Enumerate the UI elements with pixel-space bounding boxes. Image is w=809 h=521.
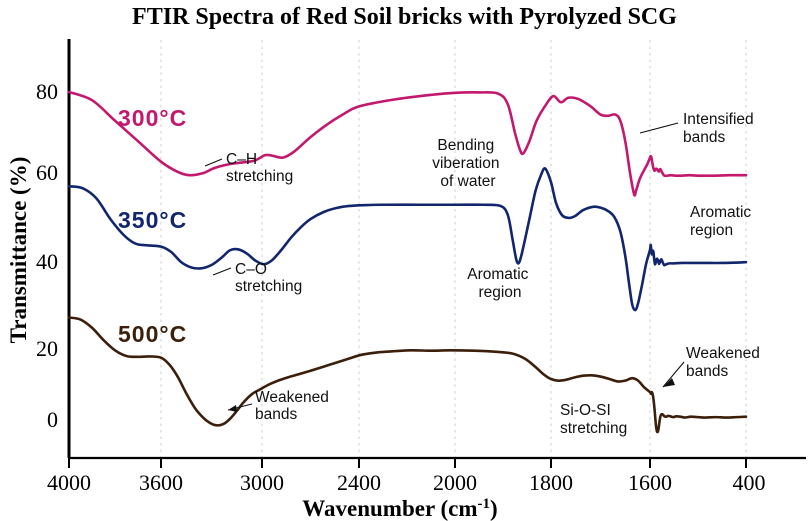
annotation-weakened-left: Weakened bands — [255, 389, 333, 423]
x-tick-label-400: 400 — [733, 470, 766, 495]
annotation-aromatic-right: Aromatic region — [690, 204, 755, 239]
series-label-300c: 300°C — [118, 105, 187, 131]
series-label-350c: 350°C — [118, 207, 187, 233]
x-tick-label-3600: 3600 — [139, 470, 183, 495]
y-tick-label-20: 20 — [36, 336, 58, 361]
series-label-500c: 500°C — [118, 321, 187, 347]
x-tick-label-1600: 1600 — [628, 470, 672, 495]
ftir-chart-figure: FTIR Spectra of Red Soil bricks with Pyr… — [0, 0, 809, 521]
annotation-ch-stretching: C–H stretching — [226, 151, 293, 185]
x-axis-title-close: ) — [490, 496, 498, 521]
x-tick-label-2000: 2000 — [433, 470, 477, 495]
spectra-plot: 4000 3600 3000 2400 2000 1800 1600 400 8… — [0, 0, 809, 521]
x-axis-title: Wavenumber (cm-1) — [302, 496, 497, 521]
arrowhead-weakened-left — [228, 405, 237, 412]
y-tick-label-60: 60 — [36, 160, 58, 185]
y-tick-label-80: 80 — [36, 79, 58, 104]
annotation-aromatic-mid: Aromatic region — [467, 266, 532, 301]
leader-ch-stretching — [205, 159, 222, 166]
x-tick-label-1800: 1800 — [529, 470, 573, 495]
y-tick-label-40: 40 — [36, 249, 58, 274]
annotation-siosi-stretching: Si-O-SI stretching — [560, 402, 627, 437]
x-tick-label-3000: 3000 — [240, 470, 284, 495]
annotation-bending-water: Bending viberation of water — [432, 137, 504, 190]
x-tick-label-4000: 4000 — [47, 470, 91, 495]
x-axis-title-main: Wavenumber (cm — [302, 496, 477, 521]
spectrum-line-350c — [69, 168, 746, 310]
leader-intensified-bands — [640, 123, 678, 133]
x-tick-label-2400: 2400 — [337, 470, 381, 495]
annotation-intensified-bands: Intensified bands — [683, 111, 758, 146]
annotation-weakened-right: Weakened bands — [686, 345, 764, 380]
x-axis-title-superscript: -1 — [478, 496, 491, 512]
y-axis-title: Transmittance (%) — [6, 157, 31, 344]
x-tick-marks — [69, 458, 746, 468]
annotation-co-stretching: C–O stretching — [235, 261, 302, 295]
y-tick-label-0: 0 — [47, 407, 58, 432]
leader-co-stretching — [213, 268, 231, 275]
